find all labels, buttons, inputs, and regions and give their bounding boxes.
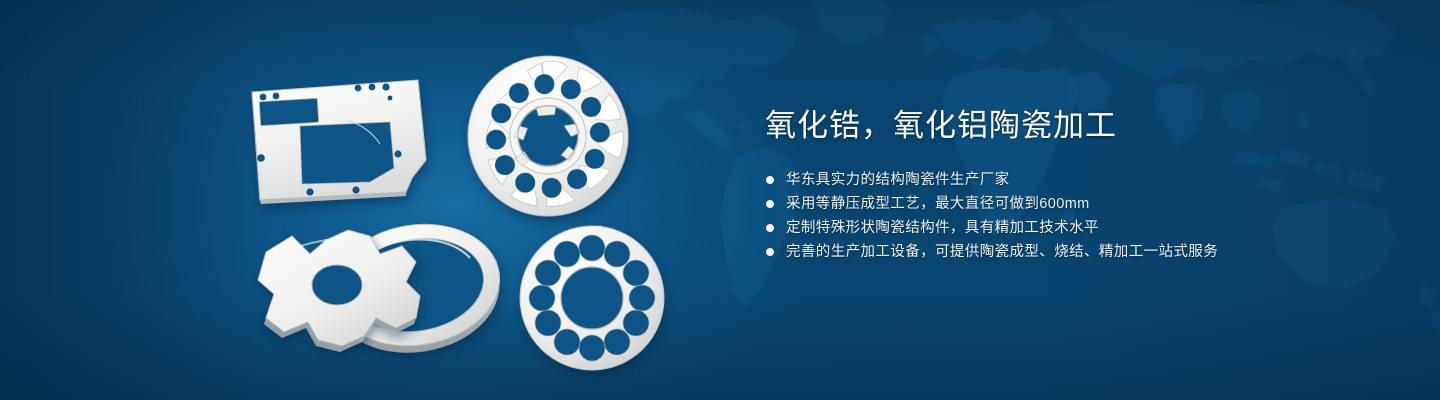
ceramic-perforated-disc-part [520,226,664,370]
feature-list: 华东具实力的结构陶瓷件生产厂家 采用等静压成型工艺，最大直径可做到600mm 定… [765,168,1385,264]
bullet-dot-icon [766,248,774,256]
ceramic-plate-part [252,80,426,204]
feature-text: 采用等静压成型工艺，最大直径可做到600mm [786,196,1090,212]
feature-text: 定制特殊形状陶瓷结构件，具有精加工技术水平 [786,220,1099,236]
list-item: 完善的生产加工设备，可提供陶瓷成型、烧结、精加工一站式服务 [765,240,1385,264]
list-item: 华东具实力的结构陶瓷件生产厂家 [765,168,1385,192]
ceramic-impeller-part [463,51,634,222]
bullet-dot-icon [766,176,774,184]
ceramic-products-image [230,40,700,380]
feature-text: 完善的生产加工设备，可提供陶瓷成型、烧结、精加工一站式服务 [786,244,1218,260]
list-item: 采用等静压成型工艺，最大直径可做到600mm [765,192,1385,216]
bullet-dot-icon [766,200,774,208]
promo-banner: 氧化锆，氧化铝陶瓷加工 华东具实力的结构陶瓷件生产厂家 采用等静压成型工艺，最大… [0,0,1440,400]
list-item: 定制特殊形状陶瓷结构件，具有精加工技术水平 [765,216,1385,240]
bullet-dot-icon [766,224,774,232]
page-title: 氧化锆，氧化铝陶瓷加工 [765,106,1385,146]
banner-text-column: 氧化锆，氧化铝陶瓷加工 华东具实力的结构陶瓷件生产厂家 采用等静压成型工艺，最大… [765,106,1385,264]
feature-text: 华东具实力的结构陶瓷件生产厂家 [786,172,1010,188]
